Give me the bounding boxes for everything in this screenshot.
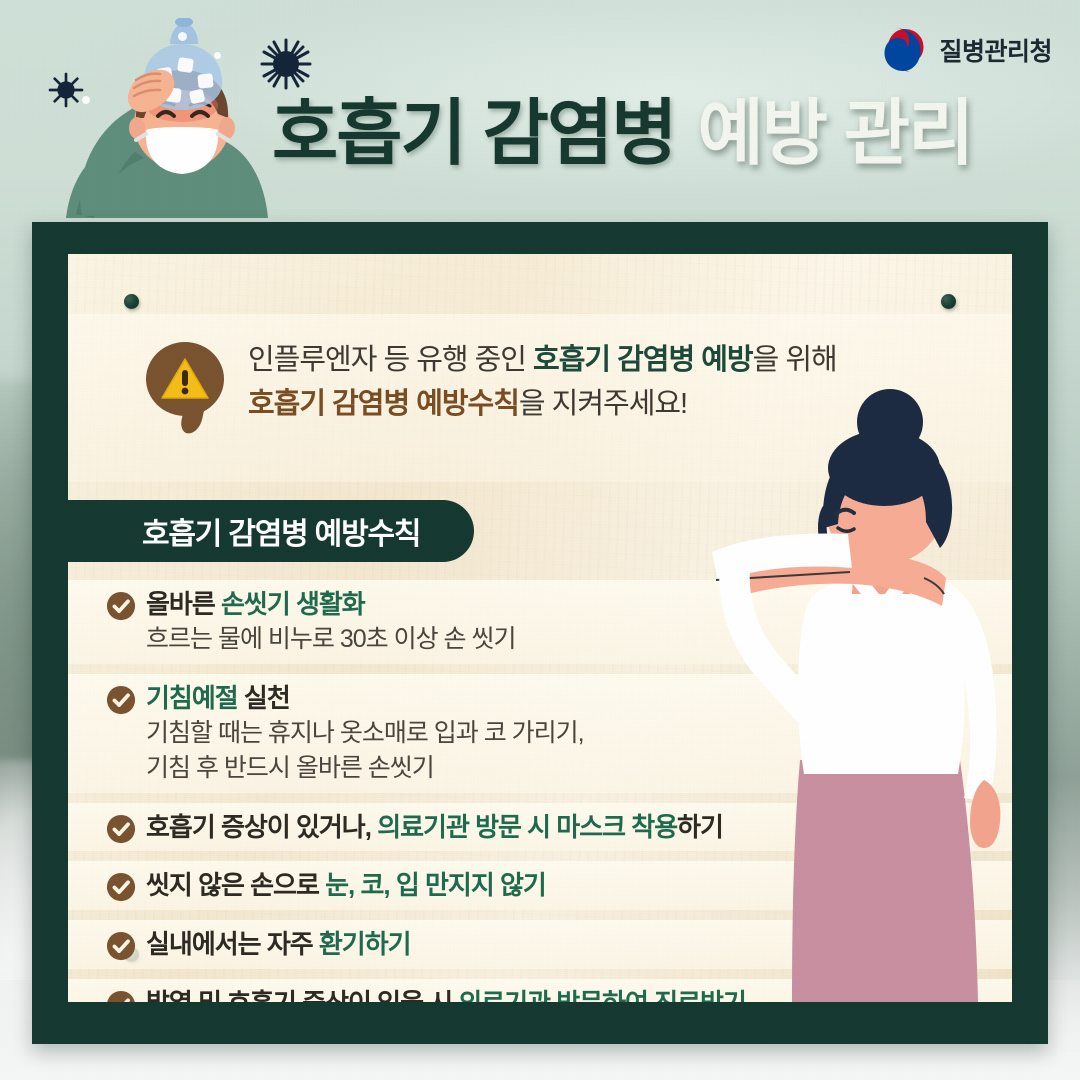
pin-top-right bbox=[941, 294, 956, 309]
rule-title: 실내에서는 자주 환기하기 bbox=[146, 927, 411, 962]
rule-item: 실내에서는 자주 환기하기 bbox=[68, 920, 1012, 969]
rule-item: 올바른 손씻기 생활화흐르는 물에 비누로 30초 이상 손 씻기 bbox=[68, 580, 1012, 664]
warning-speech-bubble bbox=[146, 342, 224, 416]
section-tab: 호흡기 감염병 예방수칙 bbox=[68, 500, 474, 562]
alert-line-2: 호흡기 감염병 예방수칙을 지켜주세요! bbox=[248, 382, 837, 426]
alert-line1-emphasis: 호흡기 감염병 예방 bbox=[533, 344, 753, 376]
check-circle-icon bbox=[106, 872, 136, 902]
rule-title-green: 손씻기 생활화 bbox=[221, 589, 365, 619]
korea-government-taegeuk-logo-icon bbox=[880, 26, 928, 74]
rule-title: 올바른 손씻기 생활화 bbox=[146, 587, 365, 622]
rule-title-green: 의료기관 방문하여 진료받기 bbox=[458, 988, 746, 1002]
rule-item: 호흡기 증상이 있거나, 의료기관 방문 시 마스크 착용하기 bbox=[68, 803, 1012, 852]
alert-line1-prefix: 인플루엔자 등 유행 중인 bbox=[248, 344, 533, 376]
check-circle-icon bbox=[106, 931, 136, 961]
check-circle-icon bbox=[106, 591, 136, 621]
rule-title-dark: 발열 및 호흡기 증상이 있을 시 bbox=[146, 988, 458, 1002]
rule-title-dark: 씻지 않은 손으로 bbox=[146, 870, 325, 900]
rule-title: 호흡기 증상이 있거나, 의료기관 방문 시 마스크 착용하기 bbox=[146, 810, 723, 845]
check-circle-icon bbox=[106, 990, 136, 1002]
alert-line2-suffix: 을 지켜주세요! bbox=[519, 388, 687, 420]
title-part-light: 예방 관리 bbox=[697, 98, 972, 170]
alert-message: 인플루엔자 등 유행 중인 호흡기 감염병 예방을 위해 호흡기 감염병 예방수… bbox=[146, 336, 837, 426]
kdca-logo: 질병관리청 bbox=[880, 26, 1052, 74]
rule-title-tail: 하기 bbox=[677, 812, 723, 842]
alert-line1-suffix: 을 위해 bbox=[753, 344, 837, 376]
rule-title-green: 환기하기 bbox=[319, 929, 411, 959]
virus-particle-icon bbox=[256, 34, 316, 94]
rule-title-row: 기침예절 실천 bbox=[146, 681, 1012, 716]
rule-title-dark: 올바른 bbox=[146, 589, 221, 619]
poster-title: 호흡기 감염병 예방 관리 bbox=[272, 98, 972, 170]
rule-title-green: 기침예절 bbox=[146, 683, 238, 713]
poster-canvas: 질병관리청 호흡기 감염병 예방 관리 bbox=[0, 0, 1080, 1080]
rule-title: 발열 및 호흡기 증상이 있을 시 의료기관 방문하여 진료받기 bbox=[146, 986, 746, 1002]
section-tab-label: 호흡기 감염병 예방수칙 bbox=[142, 509, 420, 553]
rule-subtext: 기침 후 반드시 올바른 손씻기 bbox=[146, 751, 1012, 786]
prevention-rules-list: 올바른 손씻기 생활화흐르는 물에 비누로 30초 이상 손 씻기기침예절 실천… bbox=[68, 580, 1012, 1002]
warning-triangle-icon bbox=[160, 356, 210, 402]
virus-particle-icon bbox=[46, 70, 86, 110]
rule-item: 발열 및 호흡기 증상이 있을 시 의료기관 방문하여 진료받기 bbox=[68, 979, 1012, 1002]
rule-title-row: 올바른 손씻기 생활화 bbox=[146, 587, 1012, 622]
agency-name: 질병관리청 bbox=[939, 32, 1052, 68]
notice-board-paper: 인플루엔자 등 유행 중인 호흡기 감염병 예방을 위해 호흡기 감염병 예방수… bbox=[68, 254, 1012, 1002]
rule-item: 기침예절 실천기침할 때는 휴지나 옷소매로 입과 코 가리기,기침 후 반드시… bbox=[68, 674, 1012, 793]
rule-title-row: 씻지 않은 손으로 눈, 코, 입 만지지 않기 bbox=[146, 868, 1012, 903]
sparkle-dot bbox=[178, 32, 187, 41]
alert-text-lines: 인플루엔자 등 유행 중인 호흡기 감염병 예방을 위해 호흡기 감염병 예방수… bbox=[248, 336, 837, 426]
sparkle-dot bbox=[82, 96, 90, 104]
alert-line-1: 인플루엔자 등 유행 중인 호흡기 감염병 예방을 위해 bbox=[248, 338, 837, 382]
sparkle-dot bbox=[214, 52, 221, 59]
rule-subtext: 기침할 때는 휴지나 옷소매로 입과 코 가리기, bbox=[146, 716, 1012, 751]
rule-title: 씻지 않은 손으로 눈, 코, 입 만지지 않기 bbox=[146, 868, 546, 903]
rule-title-row: 발열 및 호흡기 증상이 있을 시 의료기관 방문하여 진료받기 bbox=[146, 986, 1012, 1002]
rule-title-dark: 호흡기 증상이 있거나, bbox=[146, 812, 377, 842]
rule-title: 기침예절 실천 bbox=[146, 681, 290, 716]
rule-title-row: 실내에서는 자주 환기하기 bbox=[146, 927, 1012, 962]
pin-top-left bbox=[124, 294, 139, 309]
alert-line2-emphasis: 호흡기 감염병 예방수칙 bbox=[248, 388, 519, 420]
rule-subtext: 흐르는 물에 비누로 30초 이상 손 씻기 bbox=[146, 622, 1012, 657]
title-part-dark: 호흡기 감염병 bbox=[272, 98, 675, 170]
rule-title-green: 의료기관 방문 시 마스크 착용 bbox=[377, 812, 677, 842]
check-circle-icon bbox=[106, 814, 136, 844]
check-circle-icon bbox=[106, 685, 136, 715]
notice-board: 인플루엔자 등 유행 중인 호흡기 감염병 예방을 위해 호흡기 감염병 예방수… bbox=[32, 222, 1048, 1044]
rule-title-dark: 실내에서는 자주 bbox=[146, 929, 319, 959]
rule-title-row: 호흡기 증상이 있거나, 의료기관 방문 시 마스크 착용하기 bbox=[146, 810, 1012, 845]
rule-title-tail: 실천 bbox=[238, 683, 290, 713]
rule-title-green: 눈, 코, 입 만지지 않기 bbox=[325, 870, 546, 900]
rule-item: 씻지 않은 손으로 눈, 코, 입 만지지 않기 bbox=[68, 861, 1012, 910]
